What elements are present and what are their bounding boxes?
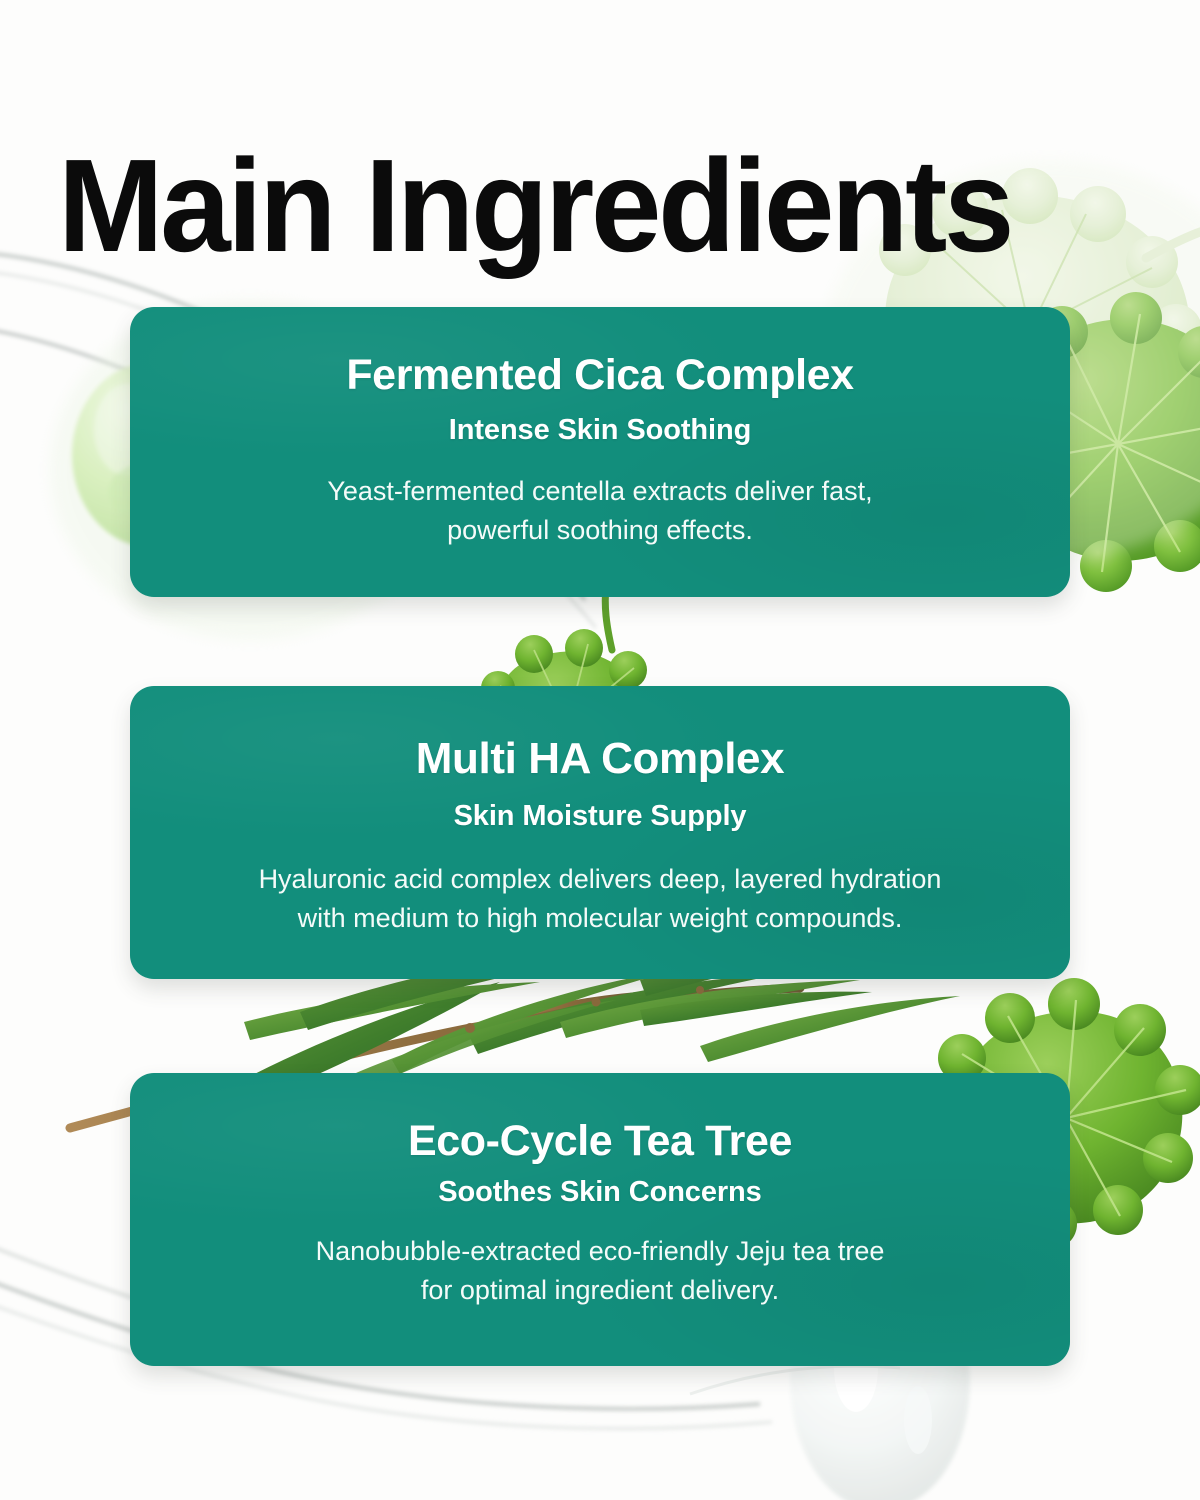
card-description: Nanobubble-extracted eco-friendly Jeju t… — [180, 1232, 1020, 1310]
card-description-line-1: Nanobubble-extracted eco-friendly Jeju t… — [180, 1232, 1020, 1271]
card-title: Fermented Cica Complex — [130, 351, 1070, 399]
card-description-line-1: Yeast-fermented centella extracts delive… — [180, 472, 1020, 511]
card-description-line-2: powerful soothing effects. — [180, 511, 1020, 550]
card-description-line-2: with medium to high molecular weight com… — [160, 899, 1040, 938]
ingredient-card-eco-cycle-tea-tree[interactable]: Eco-Cycle Tea Tree Soothes Skin Concerns… — [130, 1073, 1070, 1366]
card-title: Eco-Cycle Tea Tree — [130, 1117, 1070, 1165]
page-title: Main Ingredients — [58, 140, 1011, 272]
card-subtitle: Skin Moisture Supply — [130, 799, 1070, 834]
card-description-line-1: Hyaluronic acid complex delivers deep, l… — [160, 860, 1040, 899]
card-title: Multi HA Complex — [130, 734, 1070, 783]
card-description-line-2: for optimal ingredient delivery. — [180, 1271, 1020, 1310]
card-subtitle: Soothes Skin Concerns — [130, 1175, 1070, 1210]
ingredient-card-fermented-cica-complex[interactable]: Fermented Cica Complex Intense Skin Soot… — [130, 307, 1070, 597]
ingredients-infographic: Main Ingredients Fermented Cica Complex … — [0, 0, 1200, 1500]
card-description: Hyaluronic acid complex delivers deep, l… — [160, 860, 1040, 938]
card-subtitle: Intense Skin Soothing — [130, 413, 1070, 448]
ingredient-card-multi-ha-complex[interactable]: Multi HA Complex Skin Moisture Supply Hy… — [130, 686, 1070, 979]
card-description: Yeast-fermented centella extracts delive… — [180, 472, 1020, 550]
